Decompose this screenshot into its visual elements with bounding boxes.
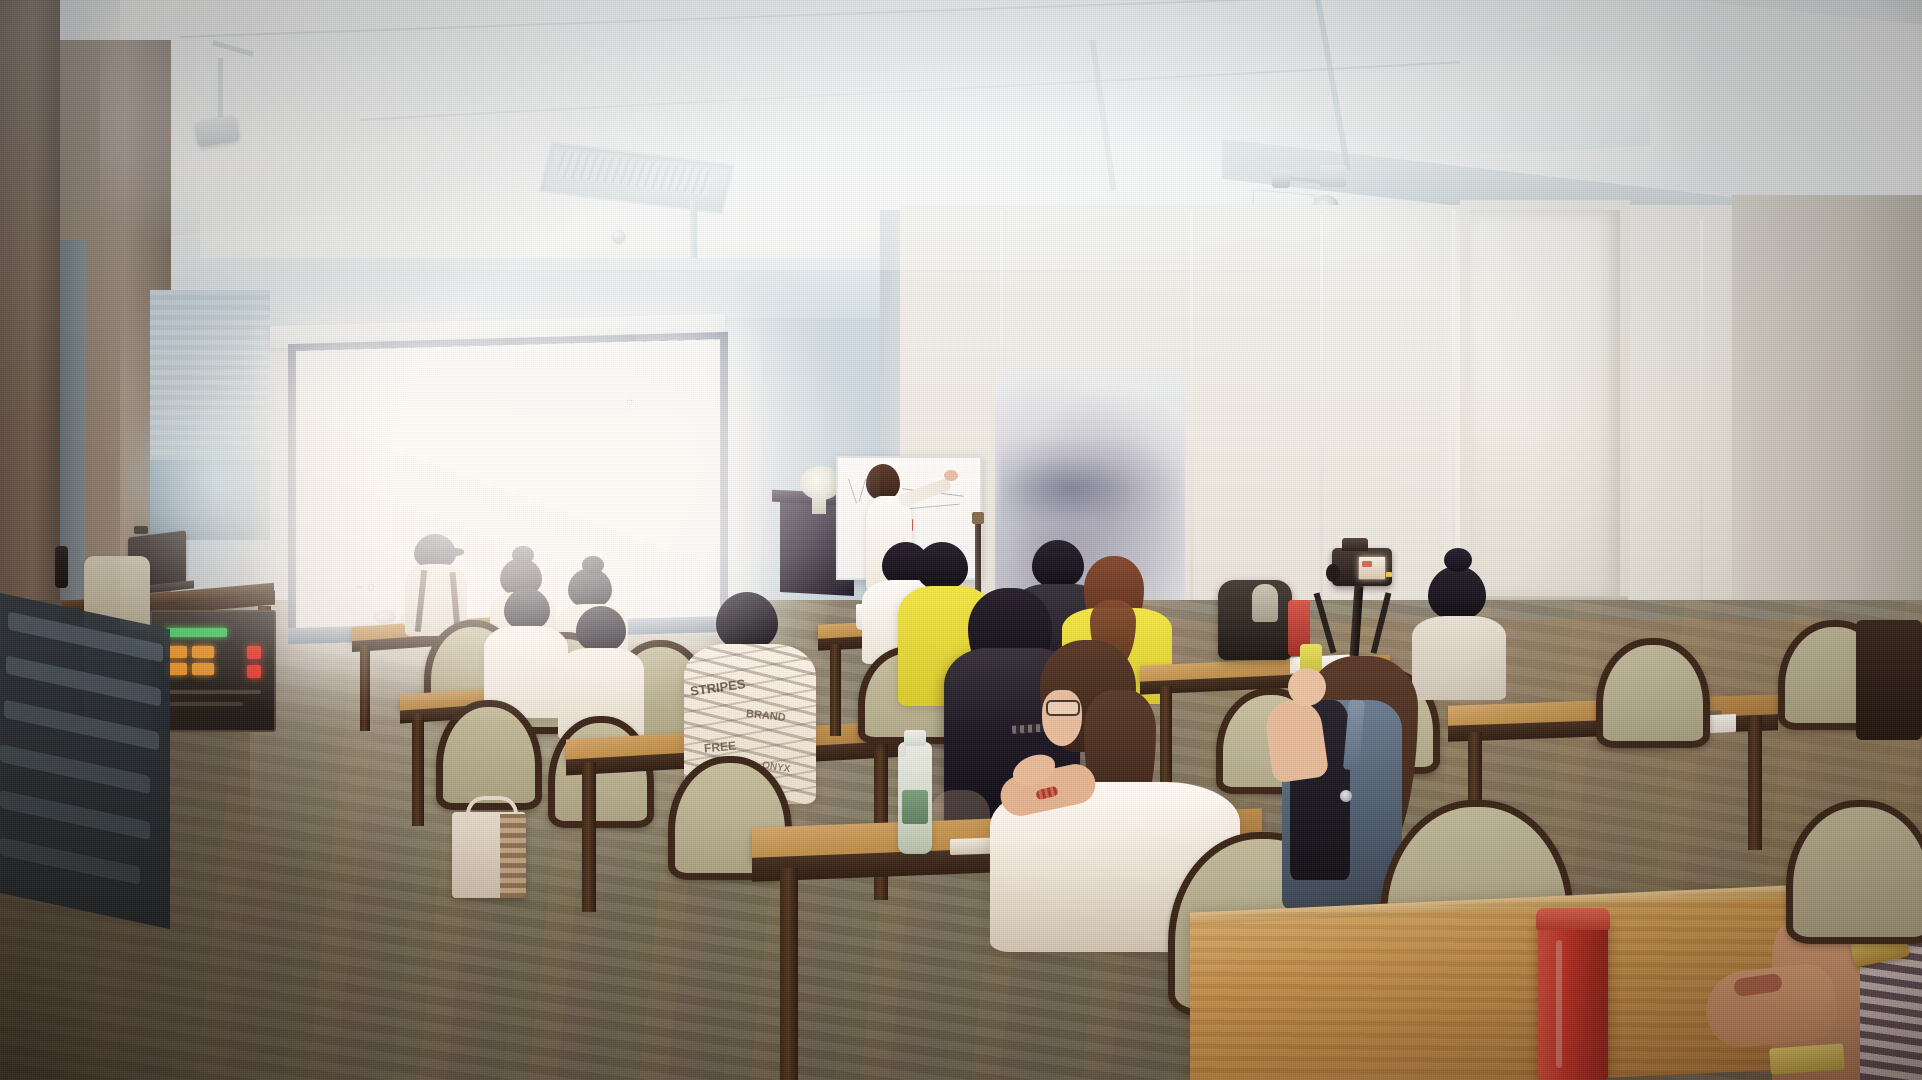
attendee-bun-knot [512,546,534,564]
teacup-1[interactable] [374,610,396,624]
dslr-camera-prism [1342,538,1368,551]
backpack-side-pocket [1252,584,1278,622]
whiteboard-stand-knob [972,512,984,524]
attendee-bun2-knot [582,556,604,574]
water-bottle-red-lid [1536,908,1610,930]
wall-artwork-detail [1000,440,1180,520]
attendee-bun-right-knot [1444,548,1472,572]
table-leg [412,714,424,826]
attendee-white-shirt-head [504,588,550,630]
attendee-bun2-head [568,568,612,608]
track-light-stem [218,58,223,120]
blouse-word: BRAND [745,708,786,724]
blouse-word: STRIPES [689,676,746,699]
blouse-word: FREE [703,739,736,756]
foreground-card[interactable] [1769,1043,1845,1074]
glasses-icon [1046,700,1080,716]
dslr-lens [1326,564,1340,582]
attendee-short-hair-head [576,606,626,652]
av-rack-label-strip [163,690,261,694]
spotlight-icon [1272,170,1290,188]
microphone[interactable] [55,546,68,588]
flower-vase-stem [812,492,826,514]
chair-right-edge[interactable] [1856,620,1922,740]
attendee-cap-brim-icon [442,548,464,556]
dslr-lcd-preview-content [1362,561,1372,567]
back-wall-upper [170,258,910,318]
av-rack-label-strip [163,702,243,706]
seminar-room-photo: ? ~ o [0,0,1922,1080]
av-rack-power-led-green [165,628,227,637]
table-leg [360,645,370,731]
water-bottle-cap [904,730,926,746]
table-leg [830,644,841,736]
spotlight-housing [1320,165,1346,187]
av-rack-status-led-red-2 [247,665,261,678]
water-bottle-red[interactable] [1538,916,1608,1080]
attendee-yellow-1-head [916,542,968,590]
table-leg [780,868,798,1080]
laptop-camera-mount [134,526,148,534]
tote-bag-pattern [500,814,526,898]
dslr-camera-lcd-screen[interactable] [1358,556,1386,580]
dslr-record-indicator [1386,572,1392,577]
overall-button-icon [1340,790,1352,802]
water-bottle-red-highlight [1556,940,1562,1068]
water-bottle-label [902,790,928,824]
sprinkler-head-icon [612,230,625,243]
attendee-bun-right-head [1428,566,1486,620]
attendee-bun-right-torso [1412,616,1506,700]
attendee-glasses-face [1042,690,1082,746]
window-right-blind [1470,210,1620,600]
presenter-hand [944,470,958,481]
attendee-dark-1-head [1032,540,1084,588]
attendee-overalls-hand [1288,668,1326,706]
av-rack-status-led-red-1 [247,646,261,659]
table-leg [1748,716,1762,850]
attendee-patterned-head [716,592,778,650]
av-rack-status-led-amber-2 [192,646,214,658]
table-leg [582,762,596,912]
presenter-head [866,464,900,500]
av-rack-status-led-amber-4 [192,663,214,675]
